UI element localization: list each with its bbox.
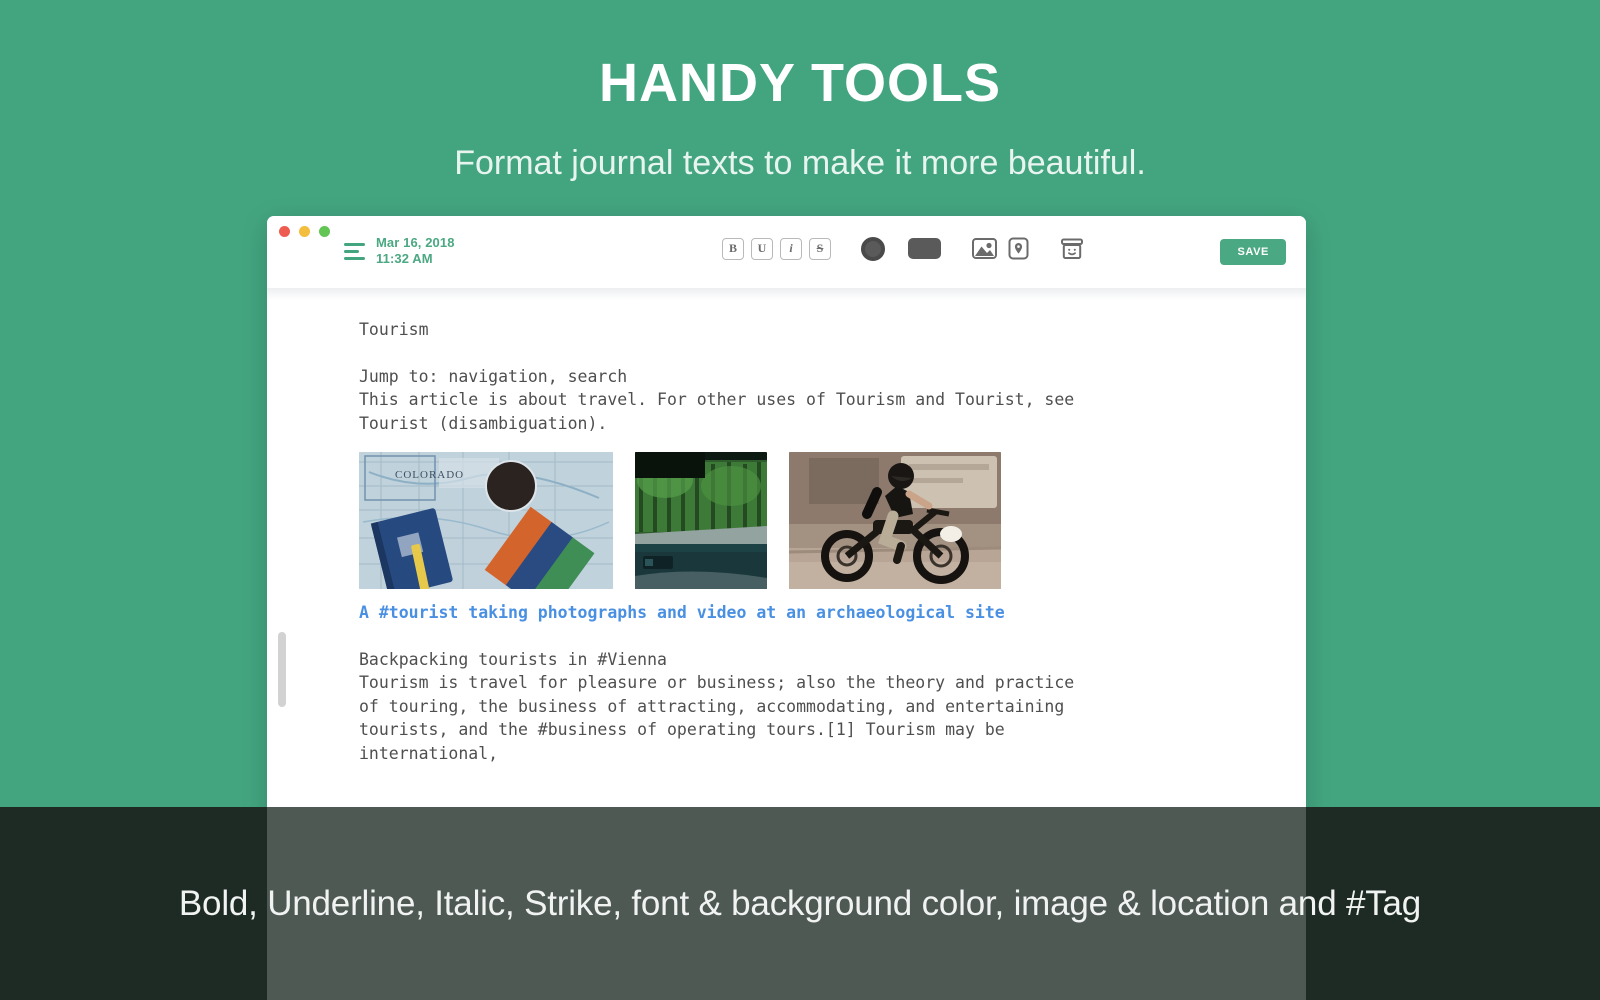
save-button[interactable]: SAVE [1220,239,1286,265]
close-button[interactable] [279,226,290,237]
bold-button[interactable]: B [722,238,744,260]
image-icon[interactable] [971,236,998,261]
image-row: COLORADO [359,452,1266,589]
promo-caption: Bold, Underline, Italic, Strike, font & … [179,884,1421,924]
document-paragraph-2-line-3: of touring, the business of attracting, … [359,695,1266,719]
minimize-button[interactable] [299,226,310,237]
promo-title: HANDY TOOLS [0,52,1600,114]
document-paragraph-2-line-4: tourists, and the #business of operating… [359,718,1266,742]
document-paragraph-2-line-5: international, [359,742,1266,766]
font-color-icon[interactable] [861,237,885,261]
document-image-forest-road[interactable] [635,452,767,589]
document-paragraph-2-line-1: Backpacking tourists in #Vienna [359,648,1266,672]
formatting-toolbar: B U i S [722,236,1085,261]
document-image-colorado-map[interactable]: COLORADO [359,452,613,589]
spacer [359,342,1266,365]
underline-button[interactable]: U [751,238,773,260]
entry-date: Mar 16, 2018 [376,235,455,251]
document-heading: Tourism [359,318,1266,342]
document-paragraph-1-line-2: This article is about travel. For other … [359,388,1266,412]
window-controls [279,226,330,237]
italic-button[interactable]: i [780,238,802,260]
caption-overlay-text-wrap: Bold, Underline, Italic, Strike, font & … [0,807,1600,1000]
document-paragraph-2-line-2: Tourism is travel for pleasure or busine… [359,671,1266,695]
toolbar-divider [267,288,1306,300]
date-block: Mar 16, 2018 11:32 AM [344,235,455,268]
titlebar: Mar 16, 2018 11:32 AM B U i S [267,216,1306,288]
menu-icon[interactable] [344,243,365,260]
entry-time: 11:32 AM [376,251,455,267]
scrollbar-thumb[interactable] [278,632,286,707]
document-paragraph-1-line-3: Tourist (disambiguation). [359,412,1266,436]
maximize-button[interactable] [319,226,330,237]
sticker-box-smiley-icon[interactable] [1058,236,1085,261]
background-color-icon[interactable] [908,238,941,259]
promo-subtitle: Format journal texts to make it more bea… [0,144,1600,183]
svg-text:COLORADO: COLORADO [395,469,464,481]
location-pin-icon[interactable] [1005,236,1032,261]
document-image-caption: A #tourist taking photographs and video … [359,601,1266,625]
document-image-motorcyclist[interactable] [789,452,1001,589]
strikethrough-button[interactable]: S [809,238,831,260]
promo-header: HANDY TOOLS Format journal texts to make… [0,0,1600,215]
document-paragraph-1-line-1: Jump to: navigation, search [359,365,1266,389]
spacer [359,625,1266,648]
